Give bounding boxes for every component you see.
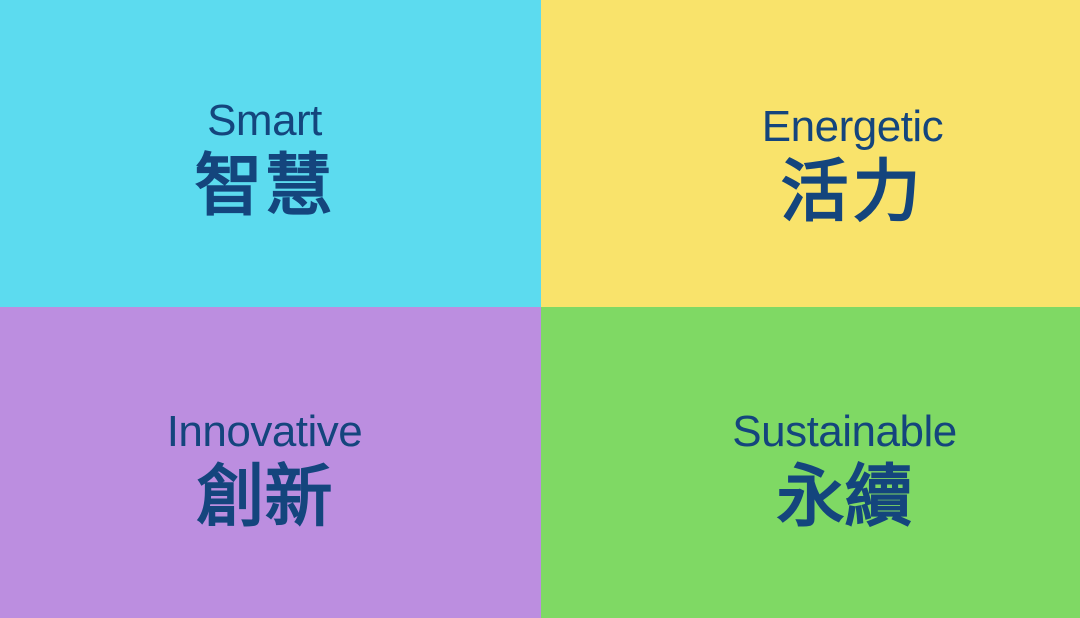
panel-sustainable-content: Sustainable 永續: [732, 409, 956, 536]
panel-smart-content: Smart 智慧: [194, 98, 334, 225]
panel-sustainable[interactable]: Sustainable 永續: [541, 307, 1080, 618]
panel-innovative[interactable]: Innovative 創新: [0, 307, 541, 618]
panel-energetic-english-label: Energetic: [762, 104, 943, 150]
panel-energetic-chinese-label: 活力: [780, 156, 924, 231]
panel-smart-english-label: Smart: [207, 98, 322, 144]
panel-smart[interactable]: Smart 智慧: [0, 0, 541, 307]
panel-sustainable-english-label: Sustainable: [732, 409, 956, 455]
panel-energetic[interactable]: Energetic 活力: [541, 0, 1080, 307]
panel-energetic-content: Energetic 活力: [762, 104, 943, 231]
panel-innovative-content: Innovative 創新: [167, 409, 363, 536]
panel-sustainable-chinese-label: 永續: [776, 461, 912, 536]
panel-smart-chinese-label: 智慧: [194, 150, 334, 225]
panel-innovative-chinese-label: 創新: [196, 461, 332, 536]
brand-values-grid: Smart 智慧 Energetic 活力 Innovative 創新 Sust…: [0, 0, 1080, 618]
panel-innovative-english-label: Innovative: [167, 409, 363, 455]
